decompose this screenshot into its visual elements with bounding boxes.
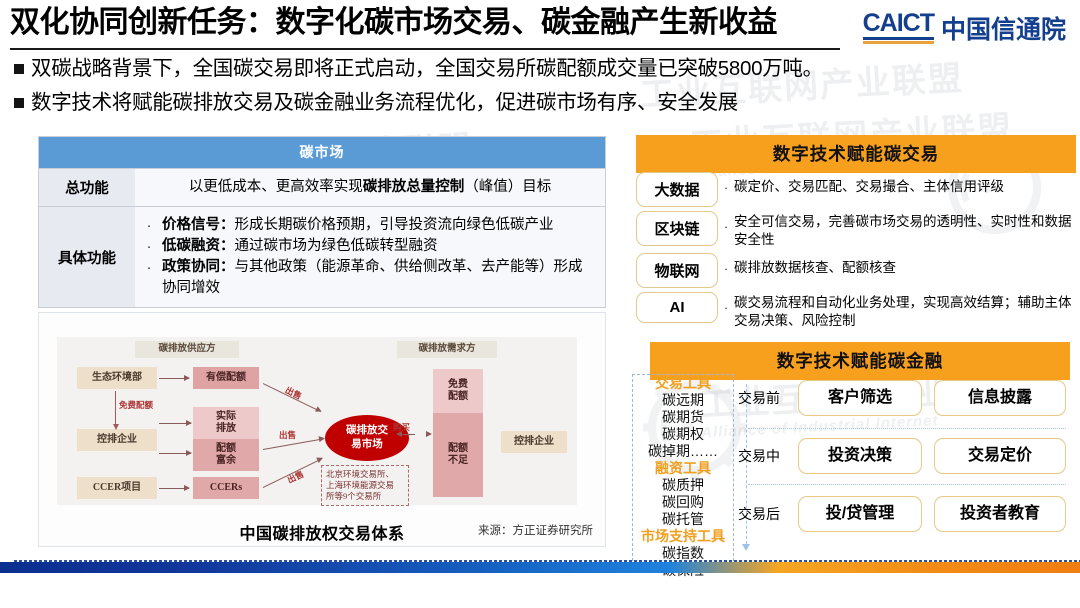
stage-label-post: 交易后: [738, 504, 794, 524]
bullet-dot-icon: ·: [718, 211, 734, 234]
stage-label-pre: 交易前: [738, 388, 794, 408]
edge-firm-to-actual-emission: [159, 423, 191, 424]
node-ccers: CCERs: [193, 477, 259, 499]
node-controlled-firm-2: 控排企业: [501, 431, 567, 453]
bullet-dot-icon: ·: [145, 215, 153, 236]
list-item: · 低碳融资：通过碳市场为绿色低碳转型融资: [145, 236, 595, 257]
text-part-bold: 碳排放总量控制: [363, 179, 465, 195]
tool-item: 碳托管: [633, 511, 733, 528]
bullet-dot-icon: ·: [718, 172, 734, 195]
tool-group-title: 融资工具: [633, 460, 733, 477]
edge-label-sell-2: 出售: [279, 429, 296, 441]
bullet-text: 数字技术将赋能碳排放交易及碳金融业务流程优化，促进碳市场有序、安全发展: [31, 90, 738, 116]
text-part: 以更低成本、更高效率实现: [189, 179, 363, 195]
chip-loan-management[interactable]: 投/贷管理: [798, 496, 922, 532]
stage-divider: [748, 484, 1066, 485]
bullet-list: 双碳战略背景下，全国碳交易即将正式启动，全国交易所碳配额成交量已突破5800万吨…: [14, 56, 1064, 124]
bullet-item: 双碳战略背景下，全国碳交易即将正式启动，全国交易所碳配额成交量已突破5800万吨…: [14, 56, 1064, 82]
bullet-dot-icon: ·: [718, 253, 734, 276]
tech-tag-bigdata[interactable]: 大数据: [636, 172, 718, 207]
tech-row: 物联网 · 碳排放数据核查、配额核查: [636, 253, 1076, 288]
caict-logo: CAICT 中国信通院: [863, 10, 1066, 44]
edge-ccer-to-ccers: [159, 488, 189, 489]
stage-label-mid: 交易中: [738, 446, 794, 466]
page-title: 双化协同创新任务：数字化碳市场交易、碳金融产生新收益: [10, 4, 850, 42]
node-quota-surplus: 配额富余: [193, 439, 259, 471]
bullet-item: 数字技术将赋能碳排放交易及碳金融业务流程优化，促进碳市场有序、安全发展: [14, 90, 1064, 116]
tech-finance-panel: 交易工具 碳远期 碳期货 碳期权 碳掉期…… 融资工具 碳质押 碳回购 碳托管 …: [636, 340, 1076, 570]
row-value: · 价格信号：形成长期碳价格预期，引导投资流向绿色低碳产业 · 低碳融资：通过碳…: [135, 207, 605, 307]
diagram-caption-demand: 碳排放需求方: [397, 341, 497, 358]
caict-acronym: CAICT: [863, 10, 934, 37]
tool-item: 碳期权: [633, 426, 733, 443]
tech-trade-list: 大数据 · 碳定价、交易匹配、交易撮合、主体信用评级 区块链 · 安全可信交易，…: [636, 172, 1076, 334]
tech-desc: 碳排放数据核查、配额核查: [734, 253, 1076, 277]
text-part: （峰值）目标: [464, 179, 551, 195]
carbon-market-table: 碳市场 总功能 以更低成本、更高效率实现碳排放总量控制（峰值）目标 具体功能 ·…: [38, 136, 606, 308]
tech-desc: 碳交易流程和自动化业务处理，实现高效结算；辅助主体交易决策、风险控制: [734, 292, 1076, 330]
tool-item: 碳质押: [633, 477, 733, 494]
node-ccer-project: CCER项目: [77, 477, 157, 499]
row-label: 总功能: [39, 169, 135, 206]
edge-label-free-quota: 免费配额: [119, 399, 153, 411]
tool-group-title: 交易工具: [633, 375, 733, 392]
bullet-dot-icon: ·: [145, 257, 153, 278]
edge-label-sell-3: 出售: [285, 468, 306, 486]
node-quota-shortage: 配额不足: [433, 413, 483, 497]
stage-divider: [748, 428, 1066, 429]
table-row: 具体功能 · 价格信号：形成长期碳价格预期，引导投资流向绿色低碳产业 · 低碳融…: [39, 206, 605, 307]
bullet-square-icon: [14, 98, 24, 108]
node-free-quota-demand: 免费配额: [433, 369, 483, 413]
node-actual-emission: 实际排放: [193, 407, 259, 439]
tool-item: 碳远期: [633, 392, 733, 409]
node-paid-quota: 有偿配额: [193, 367, 259, 389]
diagram-title: 中国碳排放权交易体系: [39, 520, 605, 544]
edge-firm-to-quota-surplus: [159, 453, 191, 454]
row-label: 具体功能: [39, 207, 135, 307]
tool-group-title: 市场支持工具: [633, 528, 733, 545]
list-item-key: 低碳融资：: [162, 238, 235, 254]
chip-information-disclosure[interactable]: 信息披露: [934, 380, 1066, 416]
edge-market-to-shortage: [397, 434, 415, 435]
chip-customer-screening[interactable]: 客户筛选: [798, 380, 922, 416]
tech-desc: 碳定价、交易匹配、交易撮合、主体信用评级: [734, 172, 1076, 196]
node-ministry: 生态环境部: [77, 367, 157, 389]
tech-tag-blockchain[interactable]: 区块链: [636, 211, 718, 246]
stage-flow-arrow-icon: [742, 544, 750, 551]
list-item-body: 政策协同：与其他政策（能源革命、供给侧改革、去产能等）形成协同增效: [162, 257, 595, 299]
tech-trade-header: 数字技术赋能碳交易: [636, 135, 1076, 173]
edge-ministry-to-firm: [115, 391, 116, 425]
tech-tag-iot[interactable]: 物联网: [636, 253, 718, 288]
tech-tag-ai[interactable]: AI: [636, 292, 718, 323]
edge-ministry-to-paid-quota: [159, 378, 189, 379]
diagram-canvas: 碳排放供应方 碳排放需求方 生态环境部 有偿配额 控排企业 实际排放 配额富余 …: [57, 337, 577, 505]
caict-bar-blue: [863, 37, 934, 40]
caict-acronym-block: CAICT: [863, 10, 934, 44]
finance-tools-box: 交易工具 碳远期 碳期货 碳期权 碳掉期…… 融资工具 碳质押 碳回购 碳托管 …: [632, 374, 734, 566]
edge-label-sell-1: 出售: [283, 384, 304, 402]
title-underline: [10, 48, 840, 50]
tool-item: 碳回购: [633, 494, 733, 511]
list-item-text: 通过碳市场为绿色低碳转型融资: [235, 238, 438, 254]
list-item-body: 价格信号：形成长期碳价格预期，引导投资流向绿色低碳产业: [162, 215, 595, 236]
row-value: 以更低成本、更高效率实现碳排放总量控制（峰值）目标: [135, 169, 605, 206]
list-item-key: 政策协同：: [162, 259, 235, 275]
bullet-square-icon: [14, 64, 24, 74]
bullet-text: 双碳战略背景下，全国碳交易即将正式启动，全国交易所碳配额成交量已突破5800万吨…: [31, 56, 823, 82]
list-item-body: 低碳融资：通过碳市场为绿色低碳转型融资: [162, 236, 595, 257]
tech-row: 大数据 · 碳定价、交易匹配、交易撮合、主体信用评级: [636, 172, 1076, 207]
list-item-text: 形成长期碳价格预期，引导投资流向绿色低碳产业: [235, 217, 554, 233]
carbon-market-header: 碳市场: [39, 137, 605, 168]
diagram-caption-supply: 碳排放供应方: [135, 341, 239, 358]
tech-row: 区块链 · 安全可信交易，完善碳市场交易的透明性、实时性和数据安全性: [636, 211, 1076, 249]
list-item: · 政策协同：与其他政策（能源革命、供给侧改革、去产能等）形成协同增效: [145, 257, 595, 299]
bullet-dot-icon: ·: [718, 292, 734, 315]
caict-name-cn: 中国信通院: [941, 17, 1066, 44]
bottom-gradient-bar: [0, 562, 1080, 573]
diagram-note-exchanges: 北京环境交易所、上海环境能源交易所等9个交易所: [321, 465, 409, 506]
chip-investment-decision[interactable]: 投资决策: [798, 438, 922, 474]
list-item-key: 价格信号：: [162, 217, 235, 233]
table-row: 总功能 以更低成本、更高效率实现碳排放总量控制（峰值）目标: [39, 168, 605, 206]
bullet-dot-icon: ·: [145, 236, 153, 257]
tech-row: AI · 碳交易流程和自动化业务处理，实现高效结算；辅助主体交易决策、风险控制: [636, 292, 1076, 330]
chip-investor-education[interactable]: 投资者教育: [934, 496, 1066, 532]
caict-bar-orange: [863, 41, 934, 44]
edge-label-buy: 购买: [393, 421, 410, 433]
carbon-trading-system-diagram: 碳排放供应方 碳排放需求方 生态环境部 有偿配额 控排企业 实际排放 配额富余 …: [38, 312, 606, 547]
slide-root: 工业互联网产业联盟 Alliance of Industrial Interne…: [0, 0, 1080, 608]
node-controlled-firm: 控排企业: [77, 429, 157, 451]
tech-desc: 安全可信交易，完善碳市场交易的透明性、实时性和数据安全性: [734, 211, 1076, 249]
tool-item: 碳掉期……: [633, 443, 733, 460]
tool-item: 碳期货: [633, 409, 733, 426]
chip-trade-pricing[interactable]: 交易定价: [934, 438, 1066, 474]
list-item: · 价格信号：形成长期碳价格预期，引导投资流向绿色低碳产业: [145, 215, 595, 236]
